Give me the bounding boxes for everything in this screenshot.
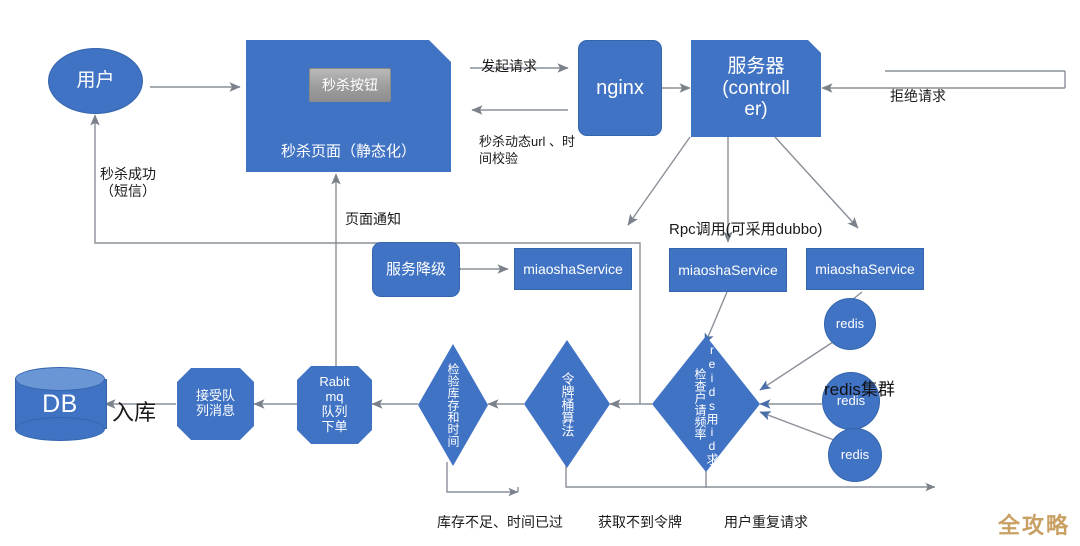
node-receive-queue-msg[interactable]: 接受队 列消息 <box>177 368 254 440</box>
seckill-button[interactable]: 秒杀按钮 <box>309 68 391 102</box>
diagram-canvas: 用户 秒杀按钮 秒杀页面（静态化） nginx 服务器 (controll er… <box>0 0 1080 546</box>
node-redis-3-label: redis <box>841 448 869 463</box>
edge-label-stock-insufficient: 库存不足、时间已过 <box>437 496 563 531</box>
node-server[interactable]: 服务器 (controll er) <box>691 40 821 137</box>
edge-label-reject-request: 拒绝请求 <box>890 70 946 105</box>
edge-label-dynamic-url-check: 秒杀动态url 、时 间校验 <box>479 118 579 167</box>
diamond-reids-check-text: reids用id求 检查户请频率 <box>694 336 718 472</box>
node-receive-queue-msg-label: 接受队 列消息 <box>196 389 235 419</box>
node-service-degrade-label: 服务降级 <box>386 261 446 278</box>
node-db[interactable]: DB <box>15 367 105 441</box>
node-diamond-token-bucket-label: 令牌桶算法 <box>561 372 574 437</box>
edge-label-no-token: 获取不到令牌 <box>598 496 682 531</box>
node-miaosha-service-1-label: miaoshaService <box>523 261 623 277</box>
seckill-button-label: 秒杀按钮 <box>322 75 378 95</box>
node-diamond-token-bucket[interactable]: 令牌桶算法 <box>524 340 610 468</box>
node-user[interactable]: 用户 <box>48 48 143 114</box>
edge-label-duplicate-request: 用户重复请求 <box>724 496 808 531</box>
watermark: 全攻略 <box>998 508 1070 540</box>
node-miaosha-service-3-label: miaoshaService <box>815 261 915 277</box>
node-redis-1[interactable]: redis <box>824 298 876 350</box>
node-seckill-page-label: 秒杀页面（静态化） <box>246 140 451 161</box>
node-server-label: 服务器 (controll er) <box>722 56 790 122</box>
node-user-label: 用户 <box>76 70 114 92</box>
redis-cluster-label: redis集群 <box>824 375 974 400</box>
diamond-reids-check-col-a: reids用id求 <box>706 343 718 465</box>
node-nginx-label: nginx <box>596 77 644 100</box>
node-diamond-reids-check[interactable]: reids用id求 检查户请频率 <box>652 336 760 472</box>
node-redis-3[interactable]: redis <box>828 428 882 482</box>
node-redis-1-label: redis <box>836 317 864 332</box>
node-miaosha-service-1[interactable]: miaoshaService <box>514 248 632 290</box>
node-service-degrade[interactable]: 服务降级 <box>372 242 460 297</box>
edge-label-send-request: 发起请求 <box>481 40 537 75</box>
node-rabitmq-label: Rabit mq 队列 下单 <box>319 375 349 435</box>
node-db-label: DB <box>15 367 105 441</box>
node-miaosha-service-2-label: miaoshaService <box>678 262 778 278</box>
edge-label-page-notify: 页面通知 <box>345 193 401 228</box>
node-rabitmq[interactable]: Rabit mq 队列 下单 <box>297 366 372 444</box>
edge-label-rpc-call: Rpc调用(可采用dubbo) <box>669 202 822 240</box>
node-miaosha-service-2[interactable]: miaoshaService <box>669 248 787 292</box>
edge-label-into-db: 入库 <box>112 371 156 426</box>
node-miaosha-service-3[interactable]: miaoshaService <box>806 248 924 290</box>
node-diamond-stock-time-label: 检验库存和时间 <box>447 363 459 447</box>
node-nginx[interactable]: nginx <box>578 40 662 136</box>
node-diamond-stock-time[interactable]: 检验库存和时间 <box>418 344 488 466</box>
edge-label-seckill-success-sms: 秒杀成功 （短信） <box>100 148 156 201</box>
